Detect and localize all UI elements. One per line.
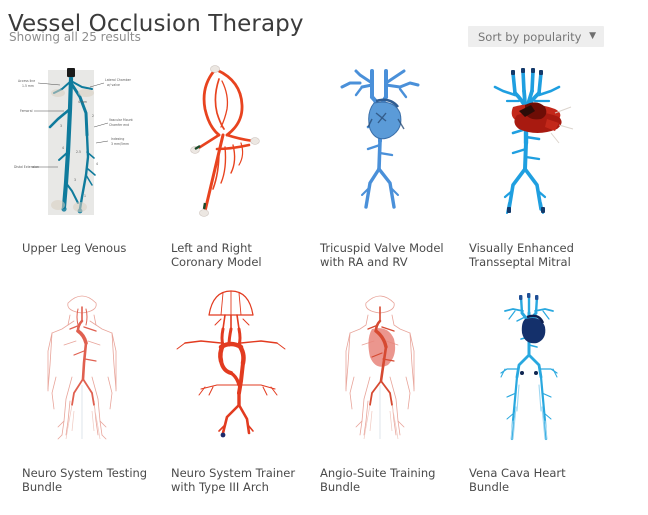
svg-text:2: 2 xyxy=(92,114,94,118)
neuro-system-testing-bundle-image[interactable] xyxy=(8,281,157,444)
svg-text:4: 4 xyxy=(96,162,98,166)
product-card[interactable]: Access line 1.5 mm Femoral Distal Extens… xyxy=(8,57,157,281)
product-card[interactable]: Angio-Suite Training Bundle xyxy=(306,281,455,505)
visually-enhanced-transseptal-mitral-image[interactable] xyxy=(455,57,604,220)
svg-text:w/ valve: w/ valve xyxy=(107,83,120,87)
svg-text:4: 4 xyxy=(62,146,64,150)
angio-suite-training-bundle-image[interactable] xyxy=(306,281,455,444)
result-count: Showing all 25 results xyxy=(9,30,141,44)
product-card[interactable]: Neuro System Trainer with Type III Arch xyxy=(157,281,306,505)
svg-text:4 mm: 4 mm xyxy=(78,100,87,104)
svg-text:Chamfer end: Chamfer end xyxy=(109,123,129,127)
product-card[interactable]: Tricuspid Valve Model with RA and RV xyxy=(306,57,455,281)
svg-text:2.5: 2.5 xyxy=(76,150,81,154)
product-title[interactable]: Neuro System Trainer with Type III Arch xyxy=(171,467,305,494)
product-card[interactable]: Neuro System Testing Bundle xyxy=(8,281,157,505)
sort-dropdown[interactable]: Sort by popularity ▼ xyxy=(468,26,604,47)
svg-text:Distal Extension: Distal Extension xyxy=(14,165,39,169)
svg-text:3: 3 xyxy=(74,178,76,182)
chevron-down-icon: ▼ xyxy=(589,31,596,42)
svg-text:Vascular Mount: Vascular Mount xyxy=(109,118,134,122)
product-title[interactable]: Tricuspid Valve Model with RA and RV xyxy=(320,242,454,269)
svg-text:Access line: Access line xyxy=(18,79,35,83)
product-card[interactable]: Visually Enhanced Transseptal Mitral xyxy=(455,57,604,281)
product-card[interactable]: Vena Cava Heart Bundle xyxy=(455,281,604,505)
sort-dropdown-value: Sort by popularity xyxy=(478,30,581,44)
svg-text:Indexing: Indexing xyxy=(111,137,124,141)
product-card[interactable]: Left and Right Coronary Model xyxy=(157,57,306,281)
svg-text:1.5 mm: 1.5 mm xyxy=(22,84,34,88)
svg-text:Lateral Chamber: Lateral Chamber xyxy=(105,78,132,82)
product-row: Neuro System Testing Bundle xyxy=(0,281,648,505)
svg-text:Femoral: Femoral xyxy=(20,109,33,113)
product-title[interactable]: Upper Leg Venous xyxy=(22,242,156,256)
upper-leg-venous-model-image[interactable]: Access line 1.5 mm Femoral Distal Extens… xyxy=(8,57,157,220)
vena-cava-heart-bundle-image[interactable] xyxy=(455,281,604,444)
tricuspid-valve-model-image[interactable] xyxy=(306,57,455,220)
svg-text:1: 1 xyxy=(84,194,86,198)
neuro-system-trainer-type-iii-arch-image[interactable] xyxy=(157,281,306,444)
product-title[interactable]: Angio-Suite Training Bundle xyxy=(320,467,454,494)
product-title[interactable]: Visually Enhanced Transseptal Mitral xyxy=(469,242,603,269)
product-title[interactable]: Vena Cava Heart Bundle xyxy=(469,467,603,494)
svg-text:3 mm/5mm: 3 mm/5mm xyxy=(111,142,129,146)
product-grid: Access line 1.5 mm Femoral Distal Extens… xyxy=(0,57,648,505)
left-right-coronary-model-image[interactable] xyxy=(157,57,306,220)
svg-text:3: 3 xyxy=(60,124,62,128)
product-row: Access line 1.5 mm Femoral Distal Extens… xyxy=(0,57,648,281)
product-listing-page: Vessel Occlusion Therapy Showing all 25 … xyxy=(0,0,648,515)
product-title[interactable]: Left and Right Coronary Model xyxy=(171,242,305,269)
product-title[interactable]: Neuro System Testing Bundle xyxy=(22,467,156,494)
